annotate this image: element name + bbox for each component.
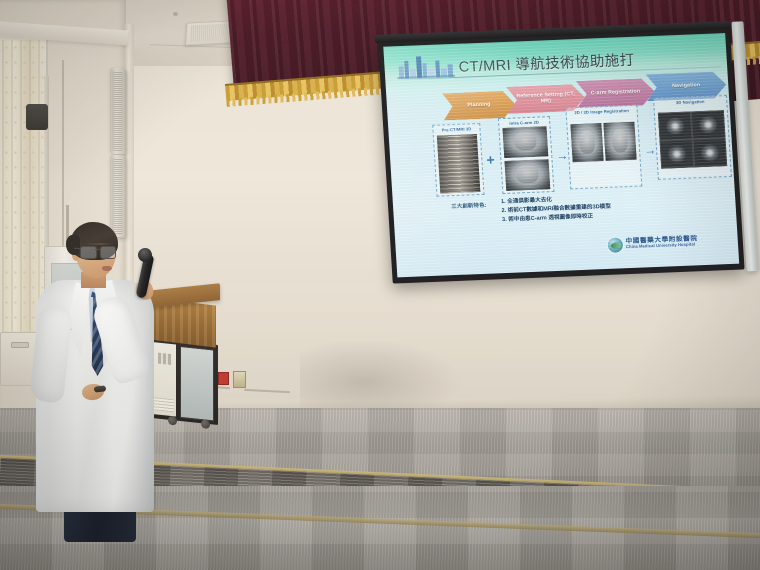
fluoro-texture <box>603 122 636 161</box>
plus-icon: + <box>486 152 495 166</box>
hospital-logo-icon <box>607 237 623 253</box>
panel-caption: 3D Navigation <box>654 98 726 106</box>
panel-image-ct <box>437 134 481 193</box>
podium-caster <box>201 419 210 429</box>
presentation-photo: CT/MRI 導航技術協助施打 Planning Reference Setti… <box>0 0 760 570</box>
arrow-right-icon: → <box>644 144 657 156</box>
image-panel-row: Pre-CT/MRI 3D + Intra C-arm 2D → <box>431 99 739 197</box>
panel-image-navigation <box>658 110 727 169</box>
podium-caster <box>168 416 177 426</box>
presenter <box>36 222 166 512</box>
city-skyline-icon <box>396 51 456 79</box>
arrow-right-icon: → <box>556 149 569 161</box>
panel-pre-ct-mri: Pre-CT/MRI 3D <box>432 123 484 197</box>
fluoro-texture <box>505 159 551 191</box>
nav-quadrant <box>660 139 695 168</box>
panel-image-fluoro-a <box>502 126 548 158</box>
hospital-logo: 中國醫藥大學附設醫院 China Medical University Hosp… <box>607 229 739 256</box>
hospital-name-en: China Medical University Hospital <box>626 243 698 250</box>
slide-surface: CT/MRI 導航技術協助施打 Planning Reference Setti… <box>383 33 739 277</box>
panel-reg-right <box>603 122 636 161</box>
panel-caption: Pre-CT/MRI 3D <box>433 125 479 132</box>
wall-speaker-upper <box>110 68 126 155</box>
panel-caption: 2D / 3D Image Registration <box>567 107 637 115</box>
podium-glass-panel <box>180 346 214 422</box>
panel-image-registration: 2D / 3D Image Registration <box>565 105 642 190</box>
bullet-list: 1. 全通俱影最大去化 2. 術前CT數據和MRI融合數據重建的3D模型 3. … <box>501 194 612 225</box>
ceiling-sprinkler-icon <box>173 12 178 16</box>
projection-screen[interactable]: CT/MRI 導航技術協助施打 Planning Reference Setti… <box>378 28 745 284</box>
nav-quadrant <box>691 110 726 139</box>
glasses-lens-right <box>100 246 116 259</box>
wall-shadow <box>300 340 460 410</box>
panel-caption: Intra C-arm 2D <box>499 119 549 126</box>
nav-quadrant <box>658 111 693 140</box>
panel-reg-left <box>570 123 603 162</box>
panel-intra-carm: Intra C-arm 2D <box>498 116 555 194</box>
fluoro-texture <box>502 126 548 158</box>
nav-quadrant <box>693 138 728 167</box>
hospital-logo-text: 中國醫藥大學附設醫院 China Medical University Hosp… <box>625 235 698 250</box>
wall-junction-box <box>233 371 246 388</box>
fluoro-texture <box>570 123 603 162</box>
panel-3d-navigation: 3D Navigation <box>653 95 732 180</box>
panel-image-fluoro-b <box>505 159 551 191</box>
presenter-eyebrow <box>82 243 114 245</box>
glasses-icon <box>80 246 118 257</box>
ct-texture <box>437 134 481 193</box>
glasses-lens-left <box>80 246 97 259</box>
wall-monitor <box>26 104 48 130</box>
glasses-bridge <box>95 249 100 250</box>
bullets-lead: 三大創新特色: <box>451 201 487 210</box>
